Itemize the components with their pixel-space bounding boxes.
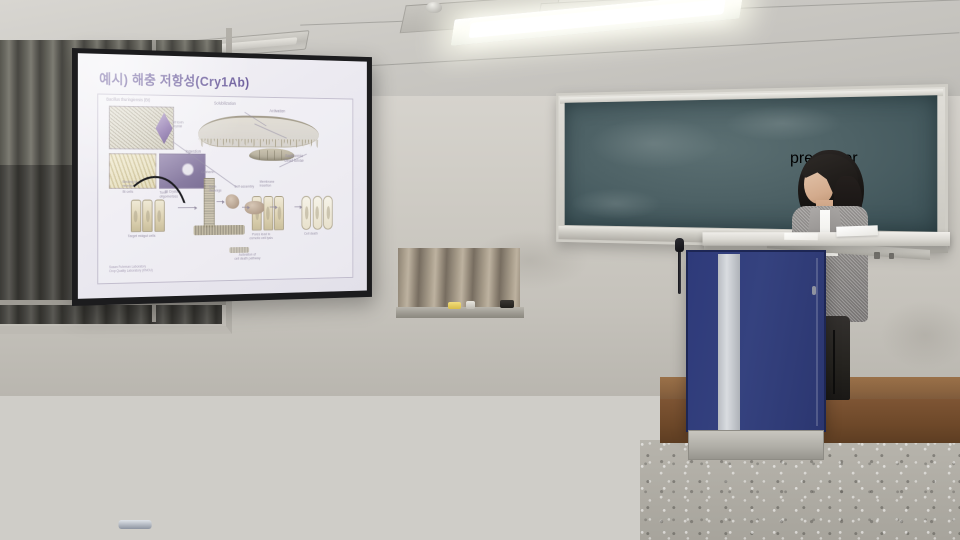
figure-label: Septicemia Dead larvae <box>284 154 303 163</box>
blackboard <box>556 84 948 251</box>
sill-object-yellow <box>448 302 461 309</box>
epithelial-cell <box>263 196 273 231</box>
figure-label: Bt toxin crystal <box>173 120 184 128</box>
desk-top <box>0 457 141 469</box>
epithelium-lysed <box>302 195 333 227</box>
podium-base <box>688 430 824 460</box>
figure-label: Bacillus thuringiensis (Bt) <box>106 97 150 102</box>
microphone-icon[interactable] <box>675 238 684 252</box>
classroom-photo: presenter 예시) 해충 저항성(Cry1Ab) <box>0 0 960 540</box>
backpack[interactable] <box>0 394 90 448</box>
figure-label: Target midgut cells <box>128 233 156 237</box>
epithelial-cell-lysed <box>323 195 332 229</box>
figure-credit: Susan Fuhrman Laboratory Crop Quality La… <box>109 265 153 273</box>
ceiling-sensor-dome <box>426 2 442 13</box>
table-bracket <box>889 253 894 259</box>
flow-arrow <box>242 207 250 208</box>
figure-label: Membrane insertion <box>260 179 275 187</box>
podium-edge-highlight <box>816 258 818 426</box>
podium-latch[interactable] <box>812 286 816 295</box>
flow-arrow <box>294 206 301 207</box>
flow-arrow <box>270 206 277 207</box>
figure-label: Activation of cell death pathway <box>234 252 260 260</box>
epithelial-cell-lysed <box>313 195 323 229</box>
podium-body <box>686 250 826 432</box>
screen-border: 예시) 해충 저항성(Cry1Ab) <box>72 48 372 306</box>
sill-object-dark <box>500 300 514 308</box>
table-bracket <box>874 252 880 259</box>
figure-label: Cell death <box>304 231 318 235</box>
midgut-villi <box>199 139 319 149</box>
figure-label: Cadherin <box>201 170 214 174</box>
chalk-dust <box>726 105 840 140</box>
figure-label: Pores lead to osmotic cell lysis <box>249 232 272 240</box>
desk-edge <box>0 470 142 477</box>
toxin-monomer-icon <box>225 194 239 209</box>
flow-arrow <box>217 201 225 202</box>
figure-label: Self-assembly <box>234 185 254 189</box>
chalk-dust <box>571 188 661 219</box>
table-paper <box>836 225 878 236</box>
projector-screen: 예시) 해충 저항성(Cry1Ab) <box>72 48 372 306</box>
presenter-trouser-seam <box>833 330 835 394</box>
wall-stain <box>880 300 960 370</box>
pore-complex-icon <box>193 225 244 235</box>
figure-label: Solubilization <box>214 101 236 106</box>
chalk-dust <box>592 118 719 169</box>
chalk-eraser-icon[interactable] <box>119 520 152 529</box>
figure-label: Ingestion <box>186 150 201 155</box>
epithelial-cell <box>274 196 284 231</box>
paper-stack[interactable] <box>0 105 54 123</box>
figure-label: Activation <box>270 110 286 115</box>
front-table-top <box>702 232 950 246</box>
sill-object-blue <box>478 301 486 309</box>
table-paper <box>784 233 818 241</box>
blackboard-surface <box>565 95 938 232</box>
desk-leg <box>0 477 6 540</box>
sill-object-white <box>466 301 475 309</box>
podium-stripe <box>718 254 740 432</box>
podium[interactable] <box>686 250 826 460</box>
slide-title: 예시) 해충 저항성(Cry1Ab) <box>99 68 249 91</box>
slide: 예시) 해충 저항성(Cry1Ab) <box>78 53 367 299</box>
epithelial-cell-lysed <box>302 195 312 229</box>
microphone-stem[interactable] <box>678 246 681 294</box>
figure-label: Toxin cleavage <box>209 185 222 193</box>
